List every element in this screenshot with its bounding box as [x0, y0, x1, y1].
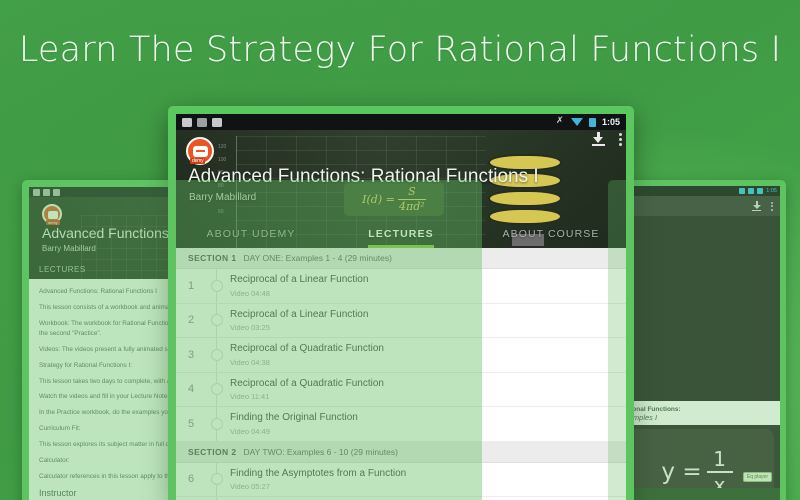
screenshot-icon	[212, 118, 222, 127]
left-course-author: Barry Mabillard	[42, 244, 96, 253]
list-item[interactable]: 5 Finding the Original Function Video 04…	[176, 407, 626, 442]
right-caption-line1: Rational Functions:	[620, 406, 774, 413]
section-label: SECTION 1	[188, 253, 236, 263]
background-tablet-right: 1:05 Rational Functions: Examples I y = …	[608, 180, 786, 500]
udemy-logo-icon: demy	[186, 137, 214, 165]
battery-icon	[589, 118, 596, 127]
lecture-number: 5	[176, 407, 206, 441]
lecture-number: 4	[176, 373, 206, 407]
lecture-meta: Video 11:41	[230, 392, 618, 401]
section-title: DAY TWO: Examples 6 - 10 (29 minutes)	[243, 447, 397, 457]
tab-about-udemy[interactable]: ABOUT UDEMY	[176, 220, 326, 248]
status-circle-icon	[211, 383, 223, 395]
list-item[interactable]: 2 Reciprocal of a Linear Function Video …	[176, 304, 626, 339]
right-caption-line2: Examples I	[620, 413, 774, 422]
info-icon	[182, 118, 192, 127]
lecture-title: Finding the Original Function	[230, 412, 618, 425]
list-item[interactable]: 1 Reciprocal of a Linear Function Video …	[176, 269, 626, 304]
image-icon	[197, 118, 207, 127]
equation-numerator: 1	[713, 449, 726, 469]
status-bar: 1:05	[176, 114, 626, 130]
lecture-meta: Video 05:27	[230, 482, 618, 491]
tab-lectures[interactable]: LECTURES	[326, 220, 476, 248]
download-icon[interactable]	[592, 132, 605, 146]
lecture-meta: Video 04:49	[230, 427, 618, 436]
lecture-meta: Video 03:25	[230, 323, 618, 332]
course-author: Barry Mabillard	[189, 192, 256, 203]
timeline-rail	[206, 269, 228, 303]
right-video-player[interactable]	[614, 216, 780, 401]
status-circle-icon	[211, 314, 223, 326]
wifi-icon	[571, 118, 583, 126]
timeline-rail	[206, 407, 228, 441]
list-item[interactable]: 6 Finding the Asymptotes from a Function…	[176, 463, 626, 498]
timeline-rail	[206, 338, 228, 372]
mute-icon	[739, 188, 745, 194]
screenshot-icon	[53, 189, 60, 196]
section-title: DAY ONE: Examples 1 - 4 (29 minutes)	[243, 253, 392, 263]
battery-icon	[757, 188, 763, 194]
course-hero: 120 100 90 80 70 60 demy	[176, 130, 626, 248]
lecture-title: Reciprocal of a Quadratic Function	[230, 378, 618, 391]
udemy-logo-icon: demy	[42, 204, 62, 224]
tab-bar: ABOUT UDEMY LECTURES ABOUT COURSE	[176, 220, 626, 248]
timeline-rail	[206, 373, 228, 407]
list-item[interactable]: 4 Reciprocal of a Quadratic Function Vid…	[176, 373, 626, 408]
status-circle-icon	[211, 349, 223, 361]
info-icon	[33, 189, 40, 196]
right-lecture-caption: Rational Functions: Examples I	[614, 401, 780, 425]
lecture-number: 6	[176, 463, 206, 497]
image-icon	[43, 189, 50, 196]
mute-icon	[556, 118, 565, 127]
lecture-list[interactable]: SECTION 1 DAY ONE: Examples 1 - 4 (29 mi…	[176, 248, 626, 500]
lecture-number: 1	[176, 269, 206, 303]
formula-lhs: I(d) =	[362, 193, 395, 206]
status-circle-icon	[211, 280, 223, 292]
lecture-title: Reciprocal of a Quadratic Function	[230, 343, 618, 356]
tab-about-course[interactable]: ABOUT COURSE	[476, 220, 626, 248]
right-tablet-screen: 1:05 Rational Functions: Examples I y = …	[614, 186, 780, 500]
section-label: SECTION 2	[188, 447, 236, 457]
main-tablet: 1:05 120 100 90 80 70 60	[168, 106, 634, 500]
timeline-rail	[206, 463, 228, 497]
wifi-icon	[748, 188, 754, 194]
lecture-title: Finding the Asymptotes from a Function	[230, 468, 618, 481]
clock: 1:05	[602, 117, 620, 127]
equation-lhs: y =	[661, 459, 701, 485]
section-header: SECTION 2 DAY TWO: Examples 6 - 10 (29 m…	[176, 442, 626, 463]
lecture-title: Reciprocal of a Linear Function	[230, 309, 618, 322]
formula-denominator: 4πd²	[399, 201, 425, 213]
app-screenshot: Learn The Strategy For Rational Function…	[0, 0, 800, 500]
action-bar	[592, 132, 622, 146]
list-item[interactable]: 3 Reciprocal of a Quadratic Function Vid…	[176, 338, 626, 373]
timeline-rail	[206, 304, 228, 338]
lecture-number: 2	[176, 304, 206, 338]
right-clock: 1:05	[766, 188, 777, 194]
section-header: SECTION 1 DAY ONE: Examples 1 - 4 (29 mi…	[176, 248, 626, 269]
status-circle-icon	[211, 418, 223, 430]
page-title: Learn The Strategy For Rational Function…	[0, 30, 800, 70]
overflow-menu-icon[interactable]	[771, 202, 773, 211]
lecture-number: 3	[176, 338, 206, 372]
lecture-meta: Video 04:38	[230, 358, 618, 367]
lecture-title: Reciprocal of a Linear Function	[230, 274, 618, 287]
right-action-bar	[614, 196, 780, 216]
course-title: Advanced Functions: Rational Functions I	[188, 166, 539, 188]
player-watermark: Eq player	[743, 472, 772, 482]
lecture-meta: Video 04:48	[230, 289, 618, 298]
right-footer-bar	[614, 488, 780, 500]
main-tablet-screen: 1:05 120 100 90 80 70 60	[176, 114, 626, 500]
right-status-bar: 1:05	[614, 186, 780, 196]
status-circle-icon	[211, 473, 223, 485]
left-tab-lectures[interactable]: LECTURES	[29, 265, 96, 274]
download-icon[interactable]	[752, 201, 761, 211]
overflow-menu-icon[interactable]	[619, 133, 622, 146]
